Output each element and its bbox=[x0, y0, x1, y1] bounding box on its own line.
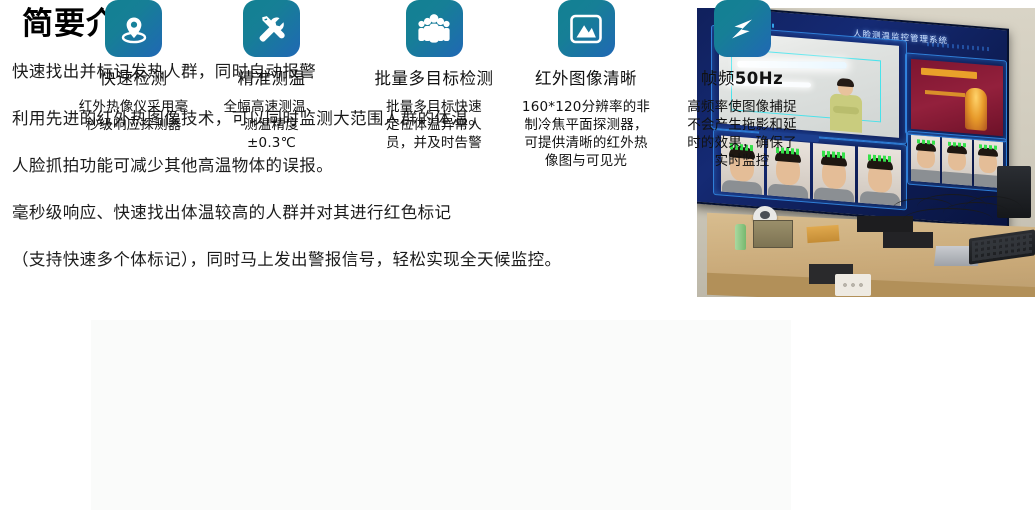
feature-desc-line: 时的效果，确保了 bbox=[659, 134, 825, 152]
feature-title: 快速检测 bbox=[47, 69, 220, 89]
feature-desc-line: 实时监控 bbox=[659, 152, 825, 170]
power-supply-unit bbox=[753, 220, 793, 248]
feature-desc-line: 批量多目标快速 bbox=[350, 98, 518, 116]
feature-desc-line: 不会产生拖影和延 bbox=[659, 116, 825, 134]
feature-description: 高频率使图像捕捉 不会产生拖影和延 时的效果，确保了 实时监控 bbox=[659, 98, 825, 170]
feature-title: 精准测温 bbox=[196, 69, 347, 89]
feature-description: 全幅高速测温、 测温精度 ±0.3℃ bbox=[196, 98, 347, 152]
thermal-camera-unit bbox=[835, 274, 871, 296]
feature-description: 批量多目标快速 定位体温异常人 员，并及时告警 bbox=[350, 98, 518, 152]
feature-description: 160*120分辨率的非 制冷焦平面探测器， 可提供清晰的红外热 像图与可见光 bbox=[510, 98, 662, 170]
feature-desc-line: 秒级响应探测器 bbox=[47, 116, 220, 134]
people-group-icon bbox=[406, 0, 463, 57]
cardboard-box bbox=[806, 225, 839, 243]
water-bottle bbox=[735, 224, 746, 250]
feature-desc-line: 高频率使图像捕捉 bbox=[659, 98, 825, 116]
feature-desc-line: 制冷焦平面探测器， bbox=[510, 116, 662, 134]
feature-item-frame-rate: 帧频50Hz 高频率使图像捕捉 不会产生拖影和延 时的效果，确保了 实时监控 bbox=[659, 0, 825, 170]
feature-desc-line: 全幅高速测温、 bbox=[196, 98, 347, 116]
network-device bbox=[883, 232, 933, 248]
feature-desc-line: 红外热像仪采用毫 bbox=[47, 98, 220, 116]
image-picture-icon bbox=[558, 0, 615, 57]
location-pin-icon bbox=[105, 0, 162, 57]
tools-icon bbox=[243, 0, 300, 57]
feature-desc-line: 员，并及时告警 bbox=[350, 134, 518, 152]
feature-title: 红外图像清晰 bbox=[510, 69, 662, 89]
feature-item-accurate-temperature: 精准测温 全幅高速测温、 测温精度 ±0.3℃ bbox=[196, 0, 347, 152]
features-panel-background bbox=[91, 320, 791, 510]
lightning-bolt-icon bbox=[714, 0, 771, 57]
feature-title: 帧频50Hz bbox=[659, 69, 825, 89]
intro-line: （支持快速多个体标记），同时马上发出警报信号，轻松实现全天候监控。 bbox=[12, 250, 682, 270]
feature-desc-line: ±0.3℃ bbox=[196, 134, 347, 152]
feature-item-fast-detection: 快速检测 红外热像仪采用毫 秒级响应探测器 bbox=[47, 0, 220, 134]
feature-title-value: 50Hz bbox=[735, 69, 783, 88]
feature-desc-line: 定位体温异常人 bbox=[350, 116, 518, 134]
feature-desc-line: 可提供清晰的红外热 bbox=[510, 134, 662, 152]
intro-line: 毫秒级响应、快速找出体温较高的人群并对其进行红色标记 bbox=[12, 203, 682, 223]
feature-description: 红外热像仪采用毫 秒级响应探测器 bbox=[47, 98, 220, 134]
feature-item-clear-image: 红外图像清晰 160*120分辨率的非 制冷焦平面探测器， 可提供清晰的红外热 … bbox=[510, 0, 662, 170]
feature-desc-line: 160*120分辨率的非 bbox=[510, 98, 662, 116]
feature-title: 批量多目标检测 bbox=[350, 69, 518, 89]
feature-item-multi-target: 批量多目标检测 批量多目标快速 定位体温异常人 员，并及时告警 bbox=[350, 0, 518, 152]
features-section: 快速检测 红外热像仪采用毫 秒级响应探测器 精准测温 全幅高速测温、 测温精度 … bbox=[0, 0, 1035, 202]
feature-title-prefix: 帧频 bbox=[701, 69, 735, 88]
feature-desc-line: 像图与可见光 bbox=[510, 152, 662, 170]
feature-desc-line: 测温精度 bbox=[196, 116, 347, 134]
